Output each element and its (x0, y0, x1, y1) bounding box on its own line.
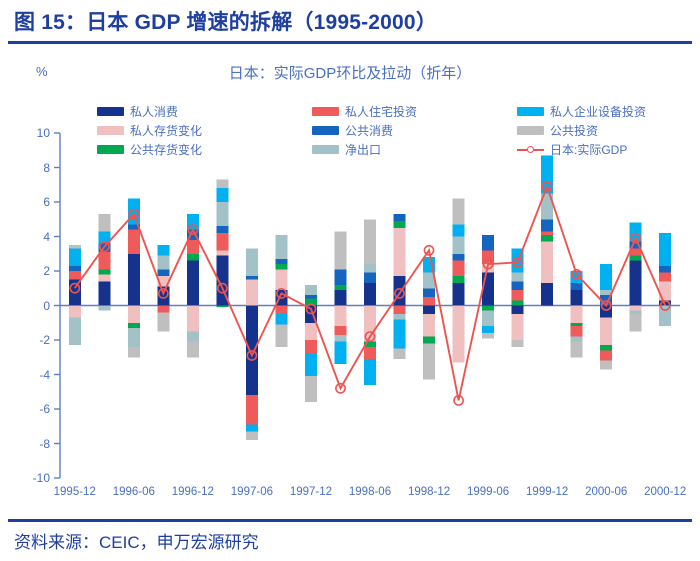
x-axis-tick-label: 1998-12 (402, 486, 456, 498)
bar-segment (69, 249, 81, 266)
y-axis-tick-label: -8 (20, 437, 50, 451)
y-axis-tick-label: -2 (20, 333, 50, 347)
footer-divider (8, 519, 692, 522)
legend-swatch-icon (517, 107, 544, 116)
bar-segment (98, 252, 110, 269)
bar-segment (305, 323, 317, 340)
bar-segment (157, 312, 169, 331)
bar-segment (275, 264, 287, 269)
x-axis-tick-label: 1995-12 (48, 486, 102, 498)
bar-segment (659, 266, 671, 273)
bar-segment (69, 306, 81, 318)
bar-segment (512, 281, 524, 290)
bar-segment (216, 233, 228, 250)
bar-segment (246, 425, 258, 432)
bar-segment (216, 202, 228, 226)
bar-segment (128, 323, 140, 328)
bar-segment (246, 280, 258, 306)
bar-segment (334, 306, 346, 327)
legend-item-private-housing[interactable]: 私人住宅投资 (312, 102, 517, 121)
bar-segment (334, 231, 346, 269)
bar-segment (334, 269, 346, 285)
bar-segment (364, 264, 376, 273)
bar-segment (246, 395, 258, 424)
bar-segment (512, 340, 524, 347)
legend-item-private-consumption[interactable]: 私人消费 (97, 102, 312, 121)
bar-segment (482, 273, 494, 306)
bar-segment (187, 261, 199, 306)
bar-segment (571, 337, 583, 342)
x-axis-tick-label: 1999-06 (461, 486, 515, 498)
bar-segment (305, 285, 317, 295)
bar-segment (128, 347, 140, 357)
y-axis-tick-label: 8 (20, 161, 50, 175)
bar-segment (364, 347, 376, 359)
bar-segment (275, 235, 287, 259)
page-title: 图 15：日本 GDP 增速的拆解（1995-2000） (14, 6, 437, 36)
chart-title: 日本：实际GDP环比及拉动（折年） (0, 62, 700, 83)
bar-group (69, 155, 671, 440)
bar-segment (275, 324, 287, 346)
x-axis-tick-label: 1997-12 (284, 486, 338, 498)
y-axis-tick-label: -4 (20, 368, 50, 382)
x-axis-tick-label: 1998-06 (343, 486, 397, 498)
bar-segment (69, 245, 81, 248)
legend-swatch-icon (97, 107, 124, 116)
y-axis-tick-label: 0 (20, 299, 50, 313)
bar-segment (630, 261, 642, 306)
bar-segment (541, 231, 553, 234)
bar-segment (334, 290, 346, 306)
bar-segment (98, 306, 110, 311)
x-axis-tick-label: 1999-12 (520, 486, 574, 498)
bar-segment (128, 254, 140, 306)
bar-segment (98, 274, 110, 281)
bar-segment (69, 271, 81, 280)
bar-segment (423, 306, 435, 315)
bar-segment (305, 354, 317, 376)
bar-segment (630, 311, 642, 314)
bar-segment (541, 242, 553, 283)
bar-segment (69, 266, 81, 271)
bar-segment (98, 214, 110, 231)
bar-segment (364, 283, 376, 305)
bar-segment (364, 273, 376, 283)
bar-segment (216, 226, 228, 233)
bar-segment (187, 254, 199, 261)
y-axis-tick-label: 6 (20, 195, 50, 209)
x-axis-tick-label: 1996-06 (107, 486, 161, 498)
bar-segment (571, 283, 583, 290)
bar-segment (571, 306, 583, 323)
bar-segment (187, 331, 199, 341)
bar-segment (453, 283, 465, 305)
y-axis-tick-label: 4 (20, 230, 50, 244)
bar-segment (128, 230, 140, 254)
bar-segment (246, 249, 258, 277)
bar-segment (187, 240, 199, 254)
bar-segment (69, 318, 81, 346)
bar-segment (394, 319, 406, 348)
y-axis-tick-label: -6 (20, 402, 50, 416)
bar-segment (275, 269, 287, 290)
bar-segment (571, 342, 583, 358)
bar-segment (423, 343, 435, 379)
bar-segment (571, 323, 583, 326)
bar-segment (216, 306, 228, 308)
chart-area: % 日本：实际GDP环比及拉动（折年） 私人消费私人住宅投资私人企业设备投资私人… (0, 50, 700, 520)
bar-segment (423, 314, 435, 336)
x-axis-tick-label: 2000-12 (638, 486, 692, 498)
legend-label: 私人住宅投资 (345, 103, 417, 120)
bar-segment (275, 259, 287, 264)
bar-segment (334, 335, 346, 342)
bar-segment (305, 376, 317, 402)
bar-segment (630, 314, 642, 331)
x-axis-tick-label: 1997-06 (225, 486, 279, 498)
bar-segment (453, 261, 465, 277)
bar-segment (512, 273, 524, 282)
bar-segment (364, 219, 376, 264)
bar-segment (157, 269, 169, 276)
bar-segment (541, 235, 553, 242)
bar-segment (216, 180, 228, 189)
bar-segment (482, 326, 494, 333)
bar-segment (423, 337, 435, 344)
bar-segment (600, 350, 612, 360)
bar-segment (482, 333, 494, 338)
bar-segment (275, 306, 287, 315)
bar-segment (600, 264, 612, 290)
bar-segment (275, 314, 287, 324)
x-axis-tick-label: 1996-12 (166, 486, 220, 498)
bar-segment (630, 255, 642, 260)
bar-segment (600, 361, 612, 370)
bar-segment (512, 290, 524, 300)
y-axis-tick-label: 10 (20, 126, 50, 140)
bar-segment (512, 306, 524, 315)
plot-svg (60, 133, 680, 478)
bar-segment (394, 306, 406, 315)
bar-segment (394, 349, 406, 359)
bar-segment (305, 340, 317, 354)
bar-segment (630, 306, 642, 311)
legend-label: 私人企业设备投资 (550, 103, 646, 120)
bar-segment (157, 245, 169, 255)
bar-segment (600, 345, 612, 350)
bar-segment (128, 306, 140, 323)
legend-item-private-capex[interactable]: 私人企业设备投资 (517, 102, 697, 121)
bar-segment (334, 342, 346, 364)
bar-segment (600, 318, 612, 346)
bar-segment (453, 254, 465, 261)
bar-segment (453, 276, 465, 283)
x-axis-tick-label: 2000-06 (579, 486, 633, 498)
bar-segment (453, 237, 465, 254)
bar-segment (512, 314, 524, 340)
bar-segment (187, 342, 199, 358)
bar-segment (482, 311, 494, 327)
bar-segment (453, 199, 465, 225)
bar-segment (571, 326, 583, 336)
figure-root: 图 15：日本 GDP 增速的拆解（1995-2000） % 日本：实际GDP环… (0, 0, 700, 561)
bar-segment (453, 306, 465, 363)
bar-segment (128, 328, 140, 347)
bar-segment (216, 250, 228, 255)
bar-segment (394, 228, 406, 276)
bar-segment (246, 276, 258, 279)
bar-segment (512, 300, 524, 305)
legend-swatch-icon (312, 107, 339, 116)
bar-segment (394, 214, 406, 221)
bar-segment (541, 283, 553, 305)
bar-segment (541, 219, 553, 231)
legend-label: 私人消费 (130, 103, 178, 120)
bar-segment (394, 314, 406, 319)
bar-segment (187, 306, 199, 332)
bar-segment (659, 273, 671, 282)
bar-segment (423, 288, 435, 297)
title-divider (8, 41, 692, 44)
y-axis-tick-label: 2 (20, 264, 50, 278)
bar-segment (423, 297, 435, 306)
source-note: 资料来源：CEIC，申万宏源研究 (14, 528, 259, 553)
bar-segment (364, 359, 376, 385)
bar-segment (659, 233, 671, 266)
bar-segment (394, 221, 406, 228)
bar-segment (246, 431, 258, 440)
bar-segment (334, 285, 346, 290)
bar-segment (157, 306, 169, 313)
bar-segment (571, 290, 583, 306)
bar-segment (305, 295, 317, 298)
bar-segment (98, 269, 110, 274)
y-axis-tick-label: -10 (20, 471, 50, 485)
bar-segment (334, 326, 346, 335)
bar-segment (216, 188, 228, 202)
bar-segment (482, 306, 494, 311)
plot-region: 1086420-2-4-6-8-101995-121996-061996-121… (60, 133, 680, 478)
bar-segment (98, 281, 110, 305)
bar-segment (453, 224, 465, 236)
bar-segment (482, 235, 494, 251)
bar-segment (157, 255, 169, 269)
